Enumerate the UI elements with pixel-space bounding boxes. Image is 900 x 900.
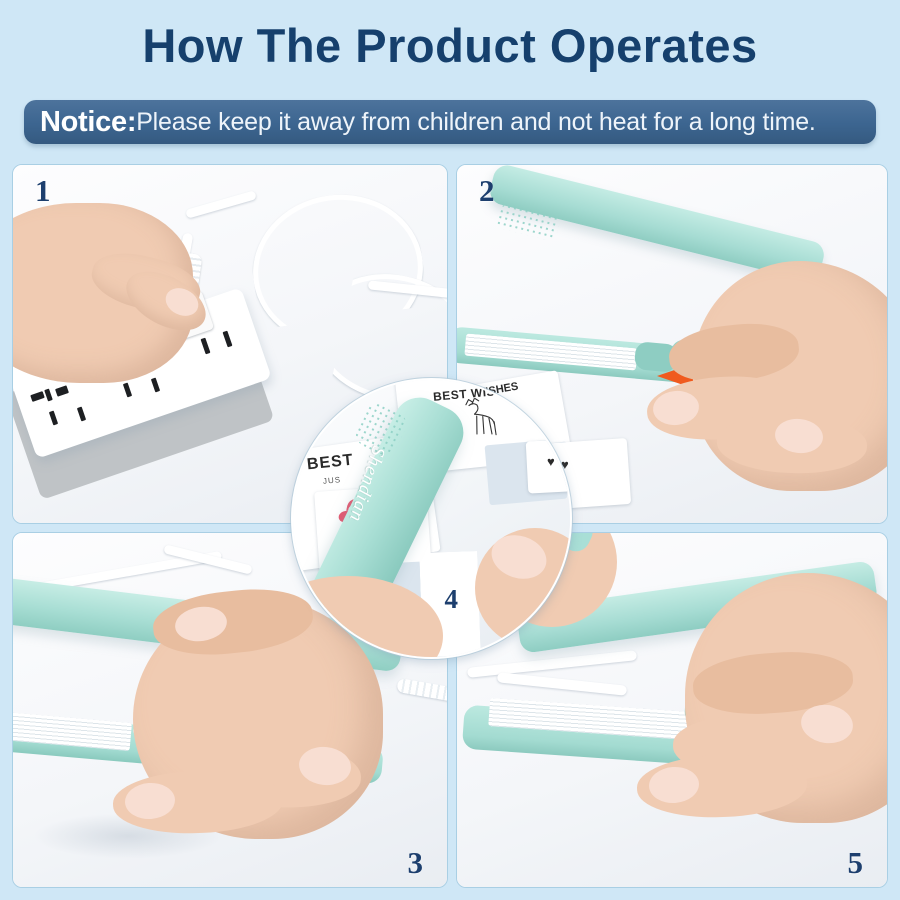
step-number-1: 1	[35, 173, 51, 209]
notice-label: Notice:	[40, 108, 136, 137]
notice-text: Please keep it away from children and no…	[136, 110, 815, 135]
step-panel-4-inset: BEST WISHES BEST JUS	[291, 378, 572, 659]
bag-text-jus: JUS	[323, 475, 342, 486]
notice-banner-wrapper: Notice: Please keep it away from childre…	[24, 100, 876, 146]
step-number-5: 5	[848, 845, 864, 881]
page-title: How The Product Operates	[0, 18, 900, 73]
step-number-2: 2	[479, 173, 495, 209]
notice-banner: Notice: Please keep it away from childre…	[24, 100, 876, 144]
bag-heart-icon: ♥	[547, 454, 555, 469]
step-number-4: 4	[445, 584, 459, 615]
infographic-page: How The Product Operates Notice: Please …	[0, 0, 900, 900]
step-number-3: 3	[408, 845, 424, 881]
step-4-scene: BEST WISHES BEST JUS	[293, 380, 570, 657]
